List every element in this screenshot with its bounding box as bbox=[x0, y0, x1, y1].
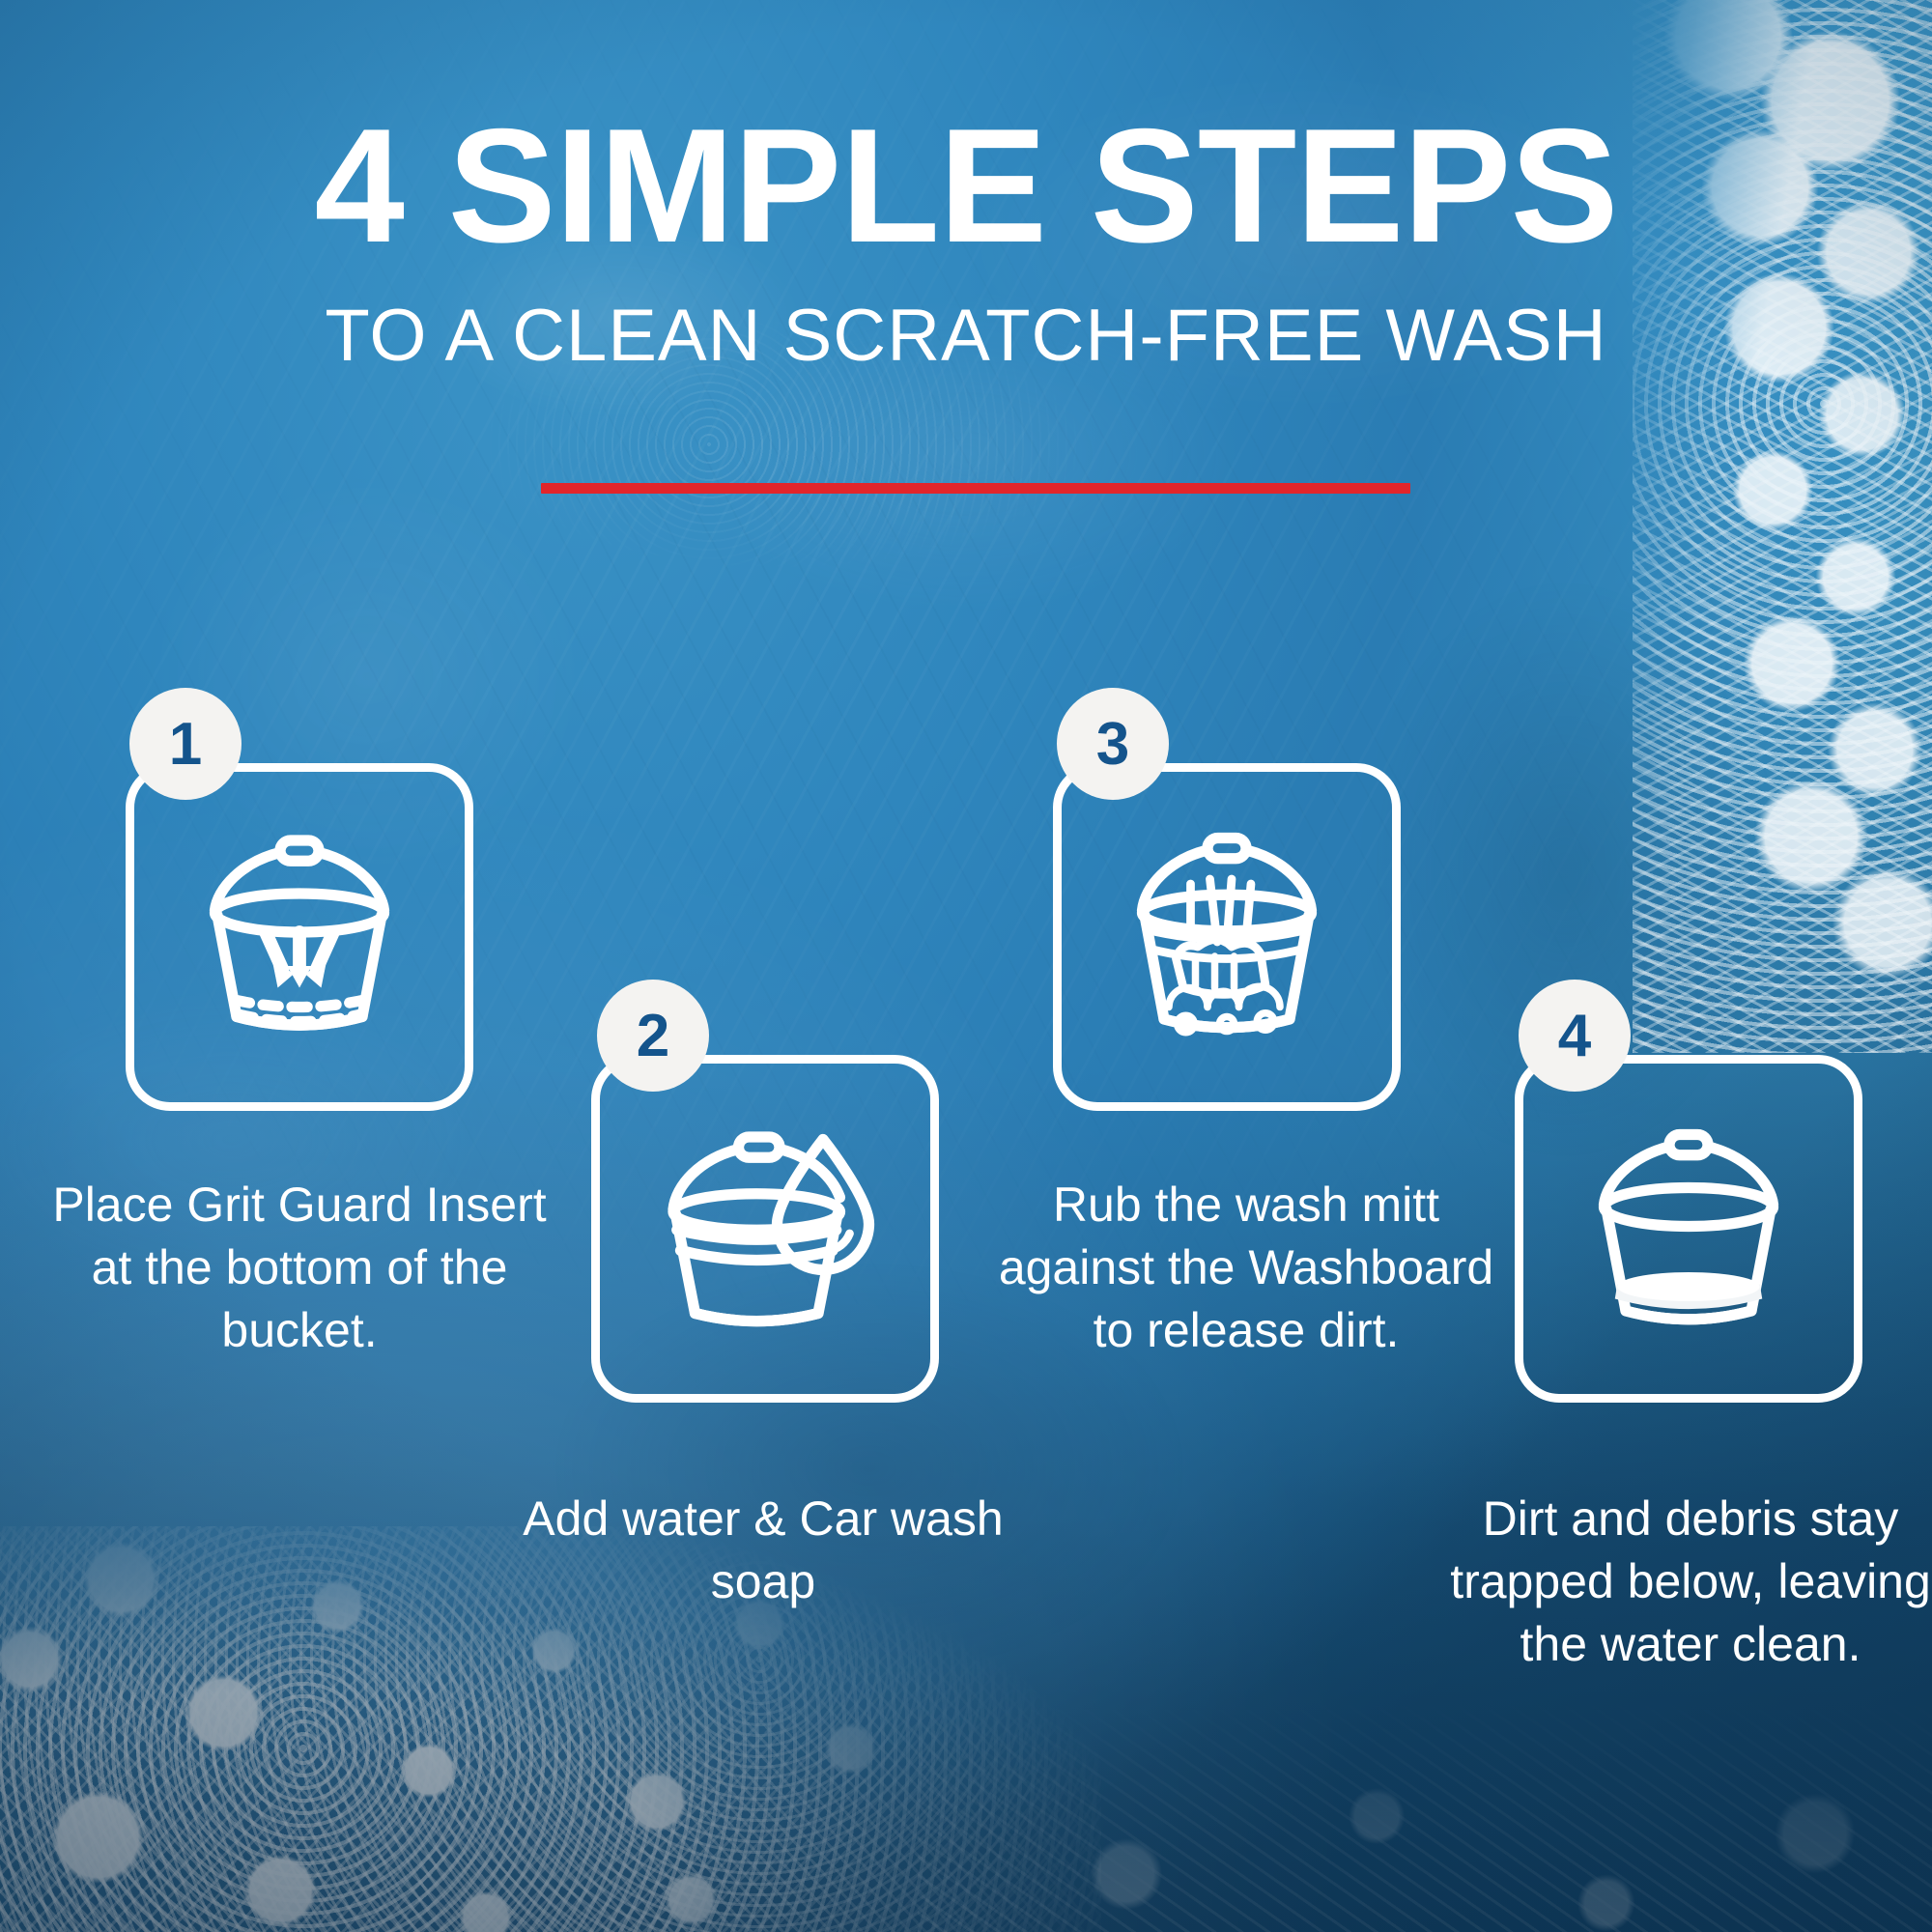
bucket-with-down-arrows-icon bbox=[179, 816, 420, 1058]
step-3-number-badge: 3 bbox=[1057, 688, 1169, 800]
infographic-poster: 4 SIMPLE STEPS TO A CLEAN SCRATCH-FREE W… bbox=[0, 0, 1932, 1932]
bucket-with-water-droplet-icon bbox=[644, 1108, 886, 1350]
step-2-icon-card bbox=[591, 1055, 939, 1403]
step-3-icon-card bbox=[1053, 763, 1401, 1111]
step-2-caption: Add water & Car wash soap bbox=[512, 1488, 1014, 1613]
step-1-icon-card bbox=[126, 763, 473, 1111]
step-3-number: 3 bbox=[1096, 710, 1129, 779]
step-4-number: 4 bbox=[1558, 1002, 1591, 1070]
step-3-caption: Rub the wash mitt against the Washboard … bbox=[995, 1174, 1497, 1362]
step-4-caption: Dirt and debris stay trapped below, leav… bbox=[1439, 1488, 1932, 1676]
step-4-icon-card bbox=[1515, 1055, 1862, 1403]
step-2-number-badge: 2 bbox=[597, 980, 709, 1092]
bucket-with-wash-mitt-icon bbox=[1106, 816, 1348, 1058]
step-1-caption: Place Grit Guard Insert at the bottom of… bbox=[48, 1174, 551, 1362]
background-foam-bottom-right bbox=[918, 1700, 1932, 1932]
step-2-number: 2 bbox=[637, 1002, 669, 1070]
bucket-with-settled-dirt-icon bbox=[1568, 1108, 1809, 1350]
step-4: 4 Dirt and debris stay trapped below, le… bbox=[0, 0, 348, 348]
step-1-number: 1 bbox=[169, 710, 202, 779]
title-divider-rule bbox=[541, 483, 1410, 494]
step-4-number-badge: 4 bbox=[1519, 980, 1631, 1092]
step-1-number-badge: 1 bbox=[129, 688, 241, 800]
